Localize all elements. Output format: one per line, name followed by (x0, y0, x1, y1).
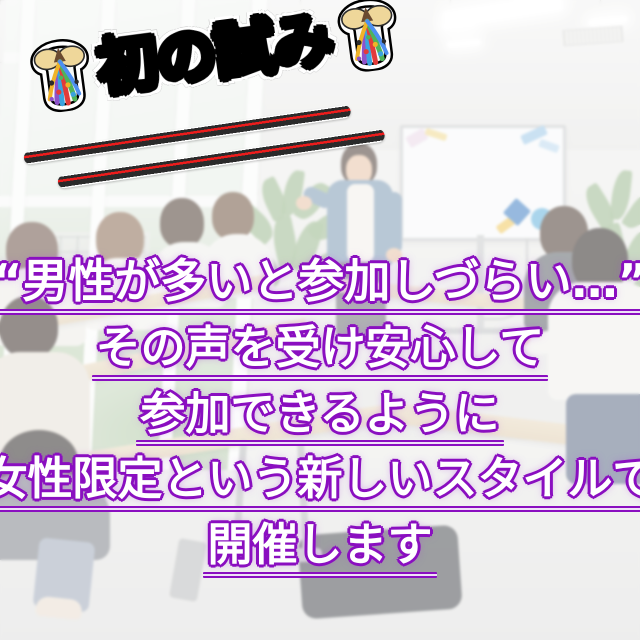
copy-line-2: その声を受け安心して (90, 325, 551, 381)
kusudama-party-popper-icon (333, 0, 404, 75)
poster-canvas: 初の試み (0, 0, 640, 640)
copy-line-1: “男性が多いと参加しづらい…” (0, 258, 640, 315)
main-copy-block: “男性が多いと参加しづらい…” その声を受け安心して 参加できるように 女性限定… (0, 258, 640, 578)
copy-line-5: 開催します (201, 522, 438, 578)
copy-line-4: 女性限定という新しいスタイルで (0, 456, 640, 512)
kusudama-party-popper-icon (26, 34, 97, 115)
copy-line-3: 参加できるように (134, 391, 505, 447)
